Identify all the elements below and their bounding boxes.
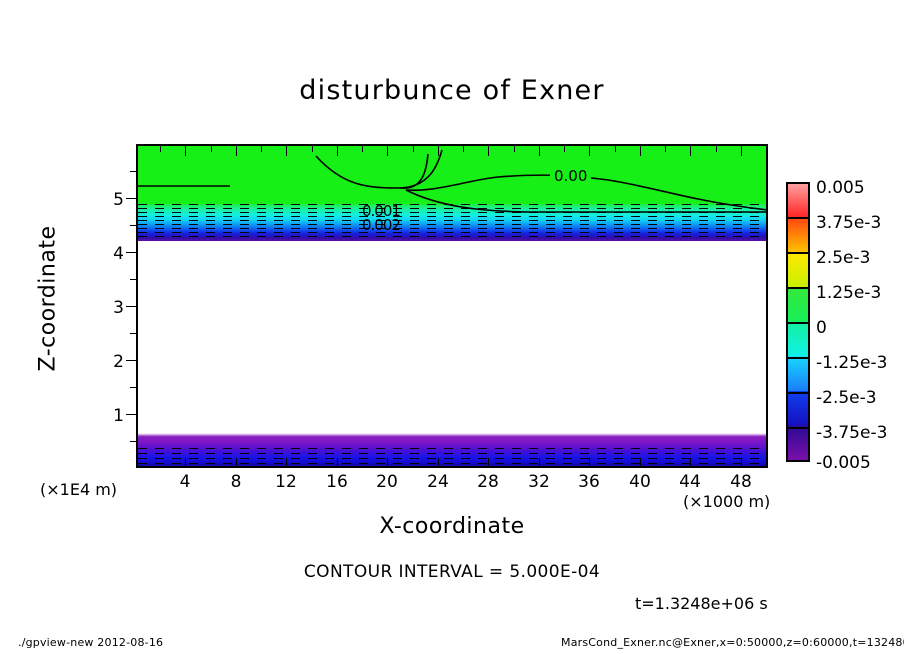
y-tick-label: 3: [104, 298, 124, 318]
x-tick-label: 12: [266, 472, 306, 492]
colorbar-separator: [786, 252, 810, 254]
x-axis-tick-top: [337, 146, 338, 156]
colorbar-separator: [786, 427, 810, 429]
x-axis-unit-label: (×1000 m): [683, 492, 770, 511]
y-axis-minor-tick: [130, 441, 136, 442]
x-axis-tick-top: [488, 146, 489, 156]
x-axis-tick: [387, 458, 388, 468]
colorbar-tick-label: -1.25e-3: [816, 353, 887, 373]
colorbar-separator: [786, 357, 810, 359]
x-axis-tick: [438, 458, 439, 468]
time-label: t=1.3248e+06 s: [635, 594, 768, 613]
y-axis-minor-tick: [130, 333, 136, 334]
x-axis-tick-top: [236, 146, 237, 156]
colorbar-tick-label: 3.75e-3: [816, 213, 881, 233]
x-axis-tick-top: [438, 146, 439, 156]
x-axis-title: X-coordinate: [0, 514, 904, 539]
footer-source-label: MarsCond_Exner.nc@Exner,x=0:50000,z=0:60…: [561, 636, 904, 649]
x-axis-tick: [640, 458, 641, 468]
x-axis-tick: [539, 458, 540, 468]
y-tick-label: 5: [104, 190, 124, 210]
x-axis-minor-tick-top: [514, 146, 515, 152]
x-axis-tick: [286, 458, 287, 468]
contour-interval-label: CONTOUR INTERVAL = 5.000E-04: [0, 562, 904, 582]
contour-label-000: 0.00: [550, 167, 591, 185]
x-tick-label: 44: [670, 472, 710, 492]
x-axis-tick: [741, 458, 742, 468]
x-axis-minor-tick-top: [665, 146, 666, 152]
x-axis-minor-tick-top: [362, 146, 363, 152]
y-axis-minor-tick: [130, 225, 136, 226]
x-tick-label: 36: [569, 472, 609, 492]
contour-label-0002: 0.002: [362, 216, 400, 234]
x-tick-label: 8: [216, 472, 256, 492]
y-axis-tick: [126, 252, 136, 253]
y-axis-tick: [126, 414, 136, 415]
x-axis-tick-top: [286, 146, 287, 156]
x-axis-minor-tick-top: [564, 146, 565, 152]
colorbar-separator: [786, 322, 810, 324]
colorbar-tick-label: -2.5e-3: [816, 388, 877, 408]
x-tick-label: 28: [468, 472, 508, 492]
x-axis-minor-tick-top: [463, 146, 464, 152]
x-axis-tick-top: [185, 146, 186, 156]
x-axis-minor-tick-top: [312, 146, 313, 152]
plot-title: disturbunce of Exner: [0, 75, 904, 106]
y-tick-label: 2: [104, 352, 124, 372]
x-tick-label: 24: [418, 472, 458, 492]
x-axis-minor-tick-top: [413, 146, 414, 152]
y-axis-tick: [126, 198, 136, 199]
x-axis-tick: [185, 458, 186, 468]
y-axis-unit-label: (×1E4 m): [40, 480, 117, 499]
colorbar-separator: [786, 392, 810, 394]
colorbar-separator: [786, 287, 810, 289]
x-axis-tick: [337, 458, 338, 468]
y-axis-title: Z-coordinate: [36, 189, 61, 409]
x-axis-tick: [589, 458, 590, 468]
y-axis-minor-tick: [130, 387, 136, 388]
x-axis-minor-tick-top: [211, 146, 212, 152]
contour-solid-lines: [138, 146, 768, 468]
y-tick-label: 1: [104, 406, 124, 426]
x-axis-minor-tick-top: [261, 146, 262, 152]
colorbar-separator: [786, 217, 810, 219]
x-tick-label: 16: [317, 472, 357, 492]
x-tick-label: 32: [519, 472, 559, 492]
x-axis-tick-top: [539, 146, 540, 156]
x-axis-minor-tick-top: [160, 146, 161, 152]
x-axis-tick: [488, 458, 489, 468]
y-axis-tick: [126, 306, 136, 307]
x-axis-minor-tick-top: [716, 146, 717, 152]
x-tick-label: 40: [620, 472, 660, 492]
colorbar-tick-label: 0: [816, 318, 827, 338]
x-tick-label: 20: [367, 472, 407, 492]
footer-command-label: ./gpview-new 2012-08-16: [18, 636, 163, 649]
x-axis-tick-top: [589, 146, 590, 156]
x-tick-label: 48: [721, 472, 761, 492]
x-axis-tick: [236, 458, 237, 468]
y-tick-label: 4: [104, 244, 124, 264]
x-axis-tick-top: [690, 146, 691, 156]
y-axis-tick: [126, 360, 136, 361]
colorbar-tick-label: -3.75e-3: [816, 423, 887, 443]
colorbar-tick-label: 1.25e-3: [816, 283, 881, 303]
plot-canvas: disturbunce of Exner 0.00 0.001: [0, 0, 904, 654]
x-axis-tick-top: [640, 146, 641, 156]
x-axis-tick: [690, 458, 691, 468]
x-tick-label: 4: [165, 472, 205, 492]
colorbar-tick-label: 2.5e-3: [816, 248, 870, 268]
y-axis-minor-tick: [130, 279, 136, 280]
plot-data-area: 0.00 0.001 0.002: [136, 144, 768, 468]
x-axis-tick-top: [741, 146, 742, 156]
x-axis-minor-tick-top: [766, 146, 767, 152]
x-axis-minor-tick-top: [615, 146, 616, 152]
y-axis-minor-tick: [130, 171, 136, 172]
x-axis-tick-top: [387, 146, 388, 156]
colorbar-tick-label: 0.005: [816, 178, 865, 198]
colorbar-tick-label: -0.005: [816, 453, 871, 473]
